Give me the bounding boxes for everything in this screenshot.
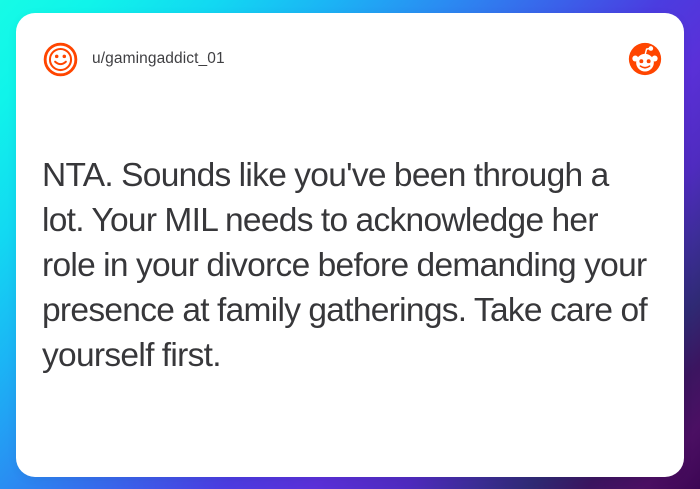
gradient-background: u/gamingaddict_01 NTA. Sounds like you'v… [0,0,700,489]
comment-header: u/gamingaddict_01 [16,13,684,105]
reddit-snoo-icon[interactable] [628,42,662,76]
reddit-comment-card: u/gamingaddict_01 NTA. Sounds like you'v… [16,13,684,477]
comment-body: NTA. Sounds like you've been through a l… [42,153,658,378]
username-label: u/gamingaddict_01 [92,51,628,67]
comment-text: NTA. Sounds like you've been through a l… [42,153,658,378]
smiley-face-icon[interactable] [42,41,79,78]
